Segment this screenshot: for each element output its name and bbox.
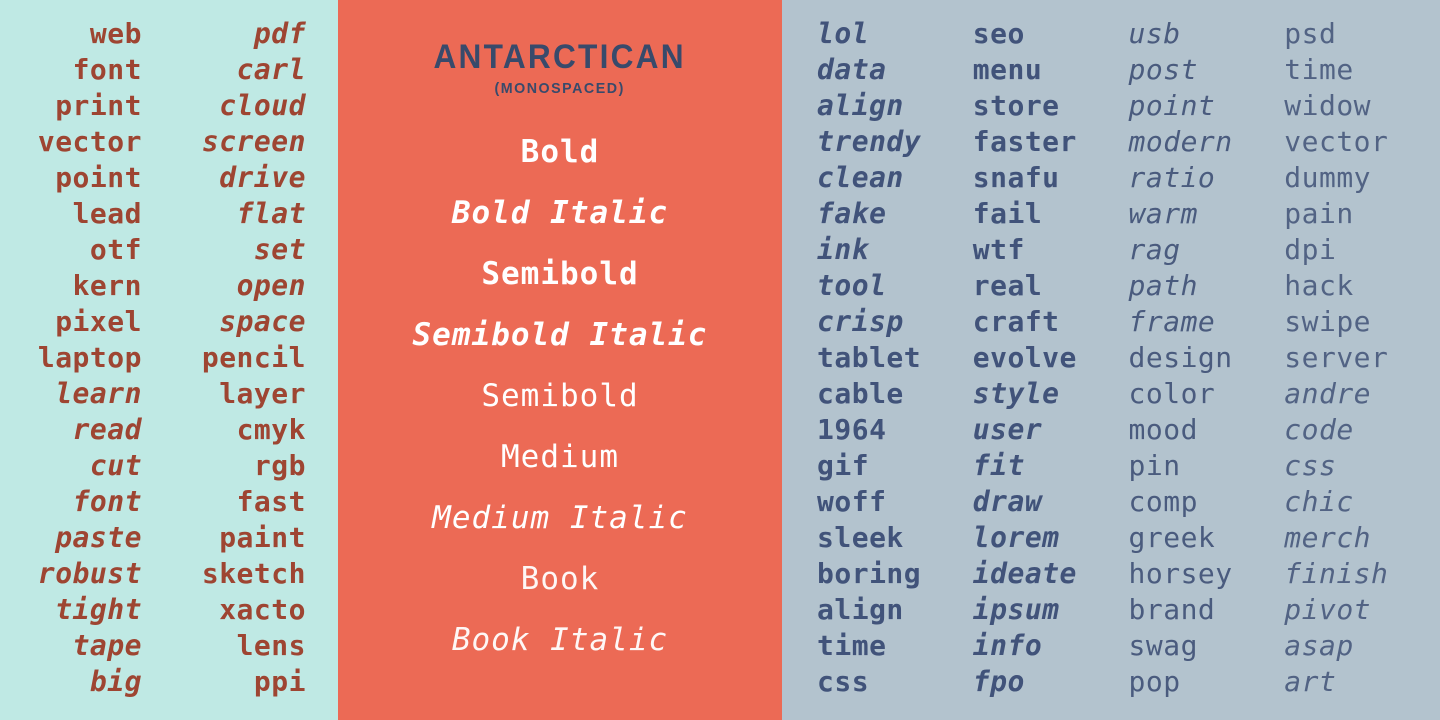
specimen-word: ratio [1129,160,1216,196]
specimen-word: sleek [817,520,904,556]
specimen-word: drive [219,160,306,196]
specimen-word: ideate [973,556,1077,592]
specimen-word: usb [1129,16,1181,52]
weight-name: Semibold Italic [413,305,708,366]
center-content: ANTARCTICAN (MONOSPACED) BoldBold Italic… [338,0,782,720]
specimen-word: server [1284,340,1388,376]
word-column-1: webfontprintvectorpointleadotfkernpixell… [0,16,142,700]
specimen-word: web [90,16,142,52]
specimen-word: point [55,160,142,196]
specimen-word: tool [817,268,886,304]
specimen-word: greek [1129,520,1216,556]
specimen-word: read [73,412,142,448]
word-column-3: loldataaligntrendycleanfakeinktoolcrispt… [817,16,973,700]
specimen-word: time [817,628,886,664]
specimen-word: tape [73,628,142,664]
specimen-word: xacto [219,592,306,628]
specimen-word: fpo [973,664,1025,700]
specimen-word: rgb [254,448,306,484]
specimen-word: carl [237,52,306,88]
specimen-word: set [254,232,306,268]
specimen-word: fast [237,484,306,520]
weight-name: Book [521,549,600,610]
specimen-word: point [1129,88,1216,124]
specimen-word: frame [1129,304,1216,340]
right-word-grid: loldataaligntrendycleanfakeinktoolcrispt… [782,16,1440,700]
specimen-word: evolve [973,340,1077,376]
title-block: ANTARCTICAN (MONOSPACED) [424,38,695,100]
font-specimen-poster: webfontprintvectorpointleadotfkernpixell… [0,0,1440,720]
weight-name: Bold [521,122,600,183]
center-title-panel: ANTARCTICAN (MONOSPACED) BoldBold Italic… [338,0,782,720]
specimen-word: fake [817,196,886,232]
weight-list: BoldBold ItalicSemiboldSemibold ItalicSe… [338,122,782,671]
specimen-word: font [73,52,142,88]
specimen-word: laptop [38,340,142,376]
specimen-word: asap [1284,628,1353,664]
specimen-word: css [1284,448,1336,484]
specimen-word: time [1284,52,1353,88]
specimen-word: css [817,664,869,700]
specimen-word: horsey [1129,556,1233,592]
specimen-word: sketch [202,556,306,592]
left-word-grid: webfontprintvectorpointleadotfkernpixell… [0,16,338,700]
specimen-word: cloud [219,88,306,124]
specimen-word: finish [1284,556,1388,592]
specimen-word: tablet [817,340,921,376]
specimen-word: warm [1129,196,1198,232]
specimen-word: kern [73,268,142,304]
specimen-word: paste [55,520,142,556]
specimen-word: pain [1284,196,1353,232]
specimen-word: vector [38,124,142,160]
specimen-word: rag [1129,232,1181,268]
specimen-word: wtf [973,232,1025,268]
specimen-subtitle: (MONOSPACED) [431,78,689,100]
word-column-2: pdfcarlcloudscreendriveflatsetopenspacep… [162,16,306,700]
specimen-word: learn [55,376,142,412]
specimen-word: swag [1129,628,1198,664]
right-word-panel: loldataaligntrendycleanfakeinktoolcrispt… [782,0,1440,720]
specimen-word: menu [973,52,1042,88]
specimen-word: mood [1129,412,1198,448]
specimen-word: cut [90,448,142,484]
word-column-4: seomenustorefastersnafufailwtfrealcrafte… [973,16,1129,700]
specimen-word: ppi [254,664,306,700]
specimen-word: clean [817,160,904,196]
specimen-word: merch [1284,520,1371,556]
weight-name: Bold Italic [452,183,668,244]
specimen-word: fail [973,196,1042,232]
specimen-word: vector [1284,124,1388,160]
specimen-word: paint [219,520,306,556]
specimen-word: dpi [1284,232,1336,268]
specimen-word: layer [219,376,306,412]
specimen-word: code [1284,412,1353,448]
specimen-word: lol [817,16,869,52]
weight-name: Semibold [481,244,638,305]
weight-name: Medium Italic [432,488,688,549]
specimen-word: 1964 [817,412,886,448]
specimen-word: dummy [1284,160,1371,196]
specimen-word: pencil [202,340,306,376]
specimen-word: font [73,484,142,520]
weight-name: Medium [501,427,619,488]
specimen-word: lens [237,628,306,664]
specimen-word: cable [817,376,904,412]
specimen-word: psd [1284,16,1336,52]
specimen-word: art [1284,664,1336,700]
weight-name: Semibold [481,366,638,427]
specimen-word: modern [1129,124,1233,160]
specimen-word: user [973,412,1042,448]
specimen-word: real [973,268,1042,304]
specimen-word: ink [817,232,869,268]
specimen-word: crisp [817,304,904,340]
specimen-word: align [817,88,904,124]
specimen-word: andre [1284,376,1371,412]
specimen-word: faster [973,124,1077,160]
specimen-word: swipe [1284,304,1371,340]
specimen-word: robust [38,556,142,592]
specimen-word: design [1129,340,1233,376]
specimen-word: brand [1129,592,1216,628]
specimen-word: boring [817,556,921,592]
specimen-word: comp [1129,484,1198,520]
specimen-word: store [973,88,1060,124]
specimen-word: screen [202,124,306,160]
specimen-word: trendy [817,124,921,160]
specimen-word: hack [1284,268,1353,304]
specimen-word: cmyk [237,412,306,448]
specimen-word: print [55,88,142,124]
specimen-word: otf [90,232,142,268]
specimen-word: pixel [55,304,142,340]
specimen-word: space [219,304,306,340]
weight-name: Book Italic [452,610,668,671]
specimen-word: flat [237,196,306,232]
specimen-word: color [1129,376,1216,412]
specimen-word: widow [1284,88,1371,124]
specimen-word: info [973,628,1042,664]
specimen-word: big [90,664,142,700]
specimen-word: draw [973,484,1042,520]
specimen-word: pop [1129,664,1181,700]
word-column-6: psdtimewidowvectordummypaindpihackswipes… [1284,16,1440,700]
specimen-word: style [973,376,1060,412]
specimen-word: chic [1284,484,1353,520]
specimen-word: pdf [254,16,306,52]
specimen-word: tight [55,592,142,628]
specimen-word: open [237,268,306,304]
specimen-word: seo [973,16,1025,52]
specimen-word: ipsum [973,592,1060,628]
specimen-word: woff [817,484,886,520]
specimen-word: path [1129,268,1198,304]
specimen-title: ANTARCTICAN [434,38,686,76]
specimen-word: pivot [1284,592,1371,628]
specimen-word: fit [973,448,1025,484]
word-column-5: usbpostpointmodernratiowarmragpathframed… [1129,16,1285,700]
specimen-word: lorem [973,520,1060,556]
specimen-word: post [1129,52,1198,88]
specimen-word: lead [73,196,142,232]
specimen-word: gif [817,448,869,484]
specimen-word: snafu [973,160,1060,196]
left-word-panel: webfontprintvectorpointleadotfkernpixell… [0,0,338,720]
specimen-word: align [817,592,904,628]
specimen-word: data [817,52,886,88]
specimen-word: craft [973,304,1060,340]
specimen-word: pin [1129,448,1181,484]
